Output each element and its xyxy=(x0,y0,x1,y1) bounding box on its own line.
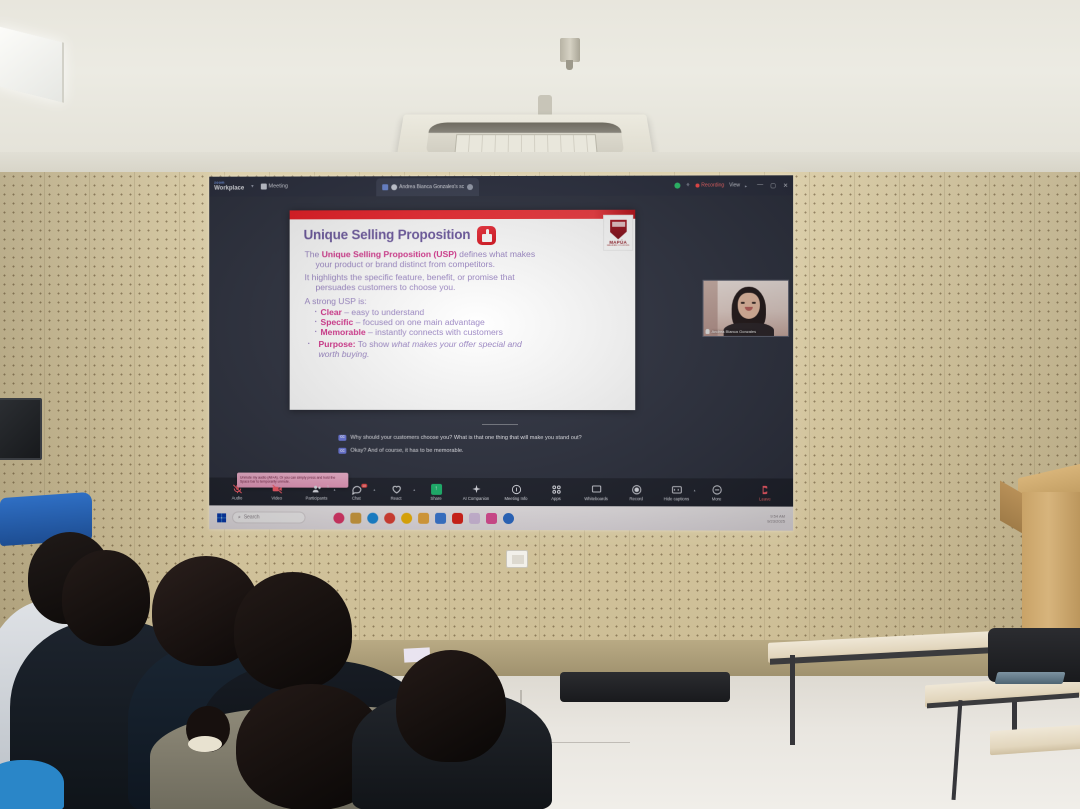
toolbar-audio-button[interactable]: Audio Unmute my audio (Alt+A). Or you ca… xyxy=(217,483,257,500)
participant-video-thumbnail[interactable]: Andrea Bianca Gonzales xyxy=(703,280,790,337)
zoom-logo: zoom Workplace xyxy=(214,182,244,192)
bullet-term: Memorable xyxy=(320,327,365,337)
hair-scrunchie xyxy=(188,736,222,752)
microphone-icon xyxy=(706,329,710,334)
laptop-on-table xyxy=(995,672,1066,684)
toolbar-participants-button[interactable]: Participants 1 ▴ xyxy=(297,483,337,500)
p1-pre: The xyxy=(305,249,322,259)
chat-unread-badge: 10 xyxy=(361,483,367,487)
toolbar-label: Hide captions xyxy=(664,496,689,501)
bullet-desc: – focused on one main advantage xyxy=(353,317,485,327)
bullet-term: Specific xyxy=(320,317,353,327)
toolbar-label: Share xyxy=(430,495,441,500)
teams-icon[interactable] xyxy=(503,513,514,524)
chrome2-icon[interactable] xyxy=(401,512,412,523)
chevron-up-icon[interactable]: ▴ xyxy=(413,487,415,491)
purpose-italic-2: worth buying. xyxy=(318,350,621,360)
network-status-icon[interactable] xyxy=(675,183,681,189)
purpose-label: Purpose: xyxy=(318,339,355,349)
toolbar-record-button[interactable]: Record xyxy=(616,484,656,501)
list-intro: A strong USP is: xyxy=(305,297,622,307)
video-bg-wall xyxy=(704,281,718,336)
toolbar-label: Leave xyxy=(759,496,771,501)
tab-title: Andrea Bianca Gonzales's sc xyxy=(399,184,464,190)
captions-badge-icon: CC xyxy=(338,435,346,440)
captions-icon xyxy=(671,484,682,495)
person-head xyxy=(234,572,352,690)
toolbar-react-button[interactable]: React ▴ xyxy=(376,483,416,500)
bench-back xyxy=(560,672,730,702)
window-controls: — ▢ ✕ xyxy=(757,182,788,189)
tab-minimize-icon[interactable] xyxy=(467,184,473,190)
meeting-menu-item[interactable]: Meeting xyxy=(261,183,288,189)
mapua-logo: MAPÚA MALAYAN COLLEGES xyxy=(603,215,633,251)
clock-date: 9/23/2025 xyxy=(767,519,785,524)
minimize-button[interactable]: — xyxy=(757,182,763,189)
shield-icon xyxy=(610,219,627,239)
mapua-subtext: MALAYAN COLLEGES xyxy=(607,244,630,246)
titlebar-right-controls: ⚘ Recording View ▸ — ▢ ✕ xyxy=(675,182,788,189)
tab-grid-icon xyxy=(382,184,388,190)
person-body xyxy=(0,760,64,809)
toolbar-more-button[interactable]: More xyxy=(696,484,736,501)
files-icon[interactable] xyxy=(418,512,429,523)
tab-shield-icon xyxy=(391,184,397,190)
view-chevron-icon[interactable]: ▸ xyxy=(745,183,747,188)
purpose-statement: Purpose: To show what makes your offer s… xyxy=(305,340,622,360)
table-leg xyxy=(790,655,795,745)
toolbar-hide-captions-button[interactable]: Hide captions ▴ xyxy=(656,484,696,501)
p1-line2: your product or brand distinct from comp… xyxy=(305,260,622,270)
chrome-icon[interactable] xyxy=(384,512,395,523)
meeting-tab[interactable]: Andrea Bianca Gonzales's sc xyxy=(376,178,478,196)
purpose-text: To show xyxy=(356,339,392,349)
chat-icon xyxy=(351,483,362,494)
live-captions-panel: CC Why should your customers choose you?… xyxy=(338,434,662,461)
toolbar-label: React xyxy=(391,495,402,500)
slide-paragraph-2: It highlights the specific feature, bene… xyxy=(305,273,622,293)
gift-award-icon xyxy=(477,226,496,245)
participant-face xyxy=(738,293,760,319)
chevron-up-icon[interactable]: ▴ xyxy=(373,487,375,491)
participant-name-tag: Andrea Bianca Gonzales xyxy=(706,329,757,334)
p2-line1: It highlights the specific feature, bene… xyxy=(305,272,515,282)
presentation-slide: Unique Selling Proposition MAPÚA MALAYAN… xyxy=(290,210,636,410)
taskbar-clock[interactable]: 9:54 AM 9/23/2025 xyxy=(767,513,785,523)
caption-text: Okay? And of course, it has to be memora… xyxy=(350,447,463,455)
youtube-icon[interactable] xyxy=(452,512,463,523)
toolbar-label: Meeting Info xyxy=(504,496,527,501)
caption-line: CC Why should your customers choose you?… xyxy=(338,434,662,442)
wall-power-outlet xyxy=(506,550,528,568)
apps-icon xyxy=(551,484,562,495)
toolbar-label: Record xyxy=(629,496,643,501)
slide-paragraph-1: The Unique Selling Proposition (USP) def… xyxy=(305,250,622,270)
slide-divider xyxy=(482,424,518,425)
slide-title-row: Unique Selling Proposition xyxy=(304,226,624,246)
leave-icon xyxy=(759,484,770,495)
toolbar-video-button[interactable]: Video xyxy=(257,483,297,500)
toolbar-ai-companion-button[interactable]: AI Companion xyxy=(456,483,496,500)
toolbar-meeting-info-button[interactable]: Meeting Info xyxy=(496,483,536,500)
edge-icon[interactable] xyxy=(367,512,378,523)
person-head xyxy=(62,550,150,646)
chevron-up-icon[interactable]: ▴ xyxy=(334,487,336,491)
caption-text: Why should your customers choose you? Wh… xyxy=(350,434,581,442)
maximize-button[interactable]: ▢ xyxy=(770,182,776,189)
participants-icon xyxy=(311,483,322,494)
page-title: Unique Selling Proposition xyxy=(304,228,471,243)
toolbar-label: Audio xyxy=(232,495,243,500)
eye-left xyxy=(741,302,745,304)
more-ellipsis-icon xyxy=(711,484,722,495)
usp-bullet-list: Clear – easy to understand Specific – fo… xyxy=(305,308,622,338)
toolbar-label: AI Companion xyxy=(463,495,490,500)
meeting-label: Meeting xyxy=(269,183,288,189)
toolbar-chat-button[interactable]: Chat 10 ▴ xyxy=(336,483,376,500)
projected-zoom-window: zoom Workplace ▾ Meeting Andrea Bianca G… xyxy=(209,175,793,530)
store-icon[interactable] xyxy=(435,512,446,523)
toolbar-label: Participants xyxy=(306,495,328,500)
photos-icon[interactable] xyxy=(486,512,497,523)
participants-count: 1 xyxy=(325,484,330,489)
participant-name: Andrea Bianca Gonzales xyxy=(712,329,757,334)
slide-body: The Unique Selling Proposition (USP) def… xyxy=(290,245,636,360)
p2-line2: persuades customers to choose you. xyxy=(305,283,622,293)
toolbar-apps-button[interactable]: Apps xyxy=(536,484,576,501)
toolbar-label: Whiteboards xyxy=(584,496,608,501)
bullet-desc: – easy to understand xyxy=(342,307,424,317)
classroom-scene: zoom Workplace ▾ Meeting Andrea Bianca G… xyxy=(0,0,1080,809)
search-icon: ⌕ xyxy=(238,514,241,520)
zoom-app-icon[interactable] xyxy=(333,512,344,523)
recording-indicator[interactable]: Recording xyxy=(695,182,724,188)
windows-start-icon[interactable] xyxy=(217,513,226,522)
slide-header: Unique Selling Proposition MAPÚA MALAYAN… xyxy=(290,219,636,246)
chevron-up-icon[interactable]: ▴ xyxy=(694,488,696,492)
taskbar-app-icons xyxy=(333,512,514,523)
info-icon xyxy=(510,484,521,495)
caption-line: CC Okay? And of course, it has to be mem… xyxy=(338,447,662,456)
p1-post: defines what makes xyxy=(457,249,535,259)
windows-taskbar: ⌕ Search 9:54 AM 9/23/2025 xyxy=(209,505,793,530)
bullet-desc: – instantly connects with customers xyxy=(366,327,503,337)
record-icon xyxy=(631,484,642,495)
bullet-term: Clear xyxy=(320,307,341,317)
whiteboard-icon xyxy=(591,484,602,495)
notes-icon[interactable] xyxy=(469,512,480,523)
chevron-down-icon[interactable]: ▾ xyxy=(251,184,253,190)
toolbar-share-button[interactable]: ↑ Share xyxy=(416,483,456,500)
view-label[interactable]: View xyxy=(729,182,740,188)
folder-icon[interactable] xyxy=(350,512,361,523)
camera-muted-icon xyxy=(271,483,282,494)
record-dot-icon xyxy=(695,184,699,188)
sparkle-icon xyxy=(471,483,482,494)
toolbar-label: Apps xyxy=(551,496,561,501)
shield-security-icon[interactable]: ⚘ xyxy=(686,183,691,189)
toolbar-leave-button[interactable]: Leave xyxy=(745,484,785,501)
share-screen-icon: ↑ xyxy=(431,483,442,494)
meeting-icon xyxy=(261,184,267,190)
close-button[interactable]: ✕ xyxy=(783,182,788,189)
wall-monitor xyxy=(0,398,42,460)
toolbar-whiteboards-button[interactable]: Whiteboards xyxy=(576,484,616,501)
eye-right xyxy=(752,302,756,304)
search-input[interactable]: ⌕ Search xyxy=(232,511,306,523)
toolbar-label: Video xyxy=(271,495,282,500)
toolbar-label: More xyxy=(712,496,722,501)
search-placeholder: Search xyxy=(244,514,260,520)
zoom-control-toolbar: Audio Unmute my audio (Alt+A). Or you ca… xyxy=(209,478,793,507)
fire-sprinkler-icon xyxy=(560,38,580,62)
person-head xyxy=(396,650,506,762)
list-item: Memorable – instantly connects with cust… xyxy=(320,328,621,338)
purpose-italic: what makes your offer special and xyxy=(392,339,522,349)
heart-icon xyxy=(391,483,402,494)
captions-badge-icon: CC xyxy=(338,448,346,453)
toolbar-label: Chat xyxy=(352,495,361,500)
p1-bold: Unique Selling Proposition (USP) xyxy=(322,249,457,259)
zoom-brand: Workplace xyxy=(214,185,244,191)
recording-label: Recording xyxy=(701,182,724,188)
zoom-title-bar: zoom Workplace ▾ Meeting Andrea Bianca G… xyxy=(209,175,793,196)
